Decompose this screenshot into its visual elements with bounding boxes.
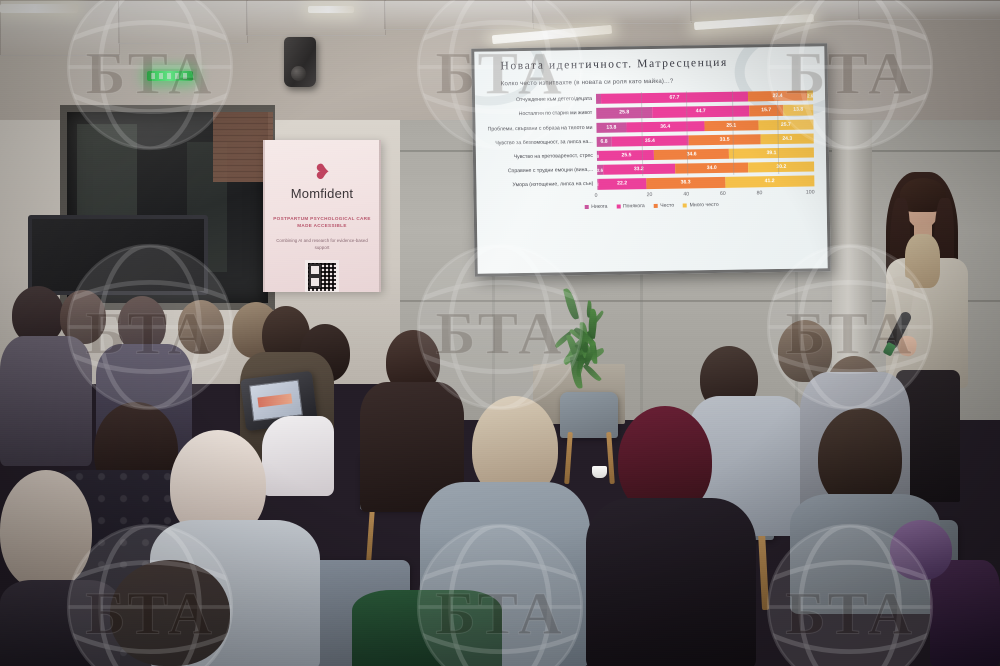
legend-label: Често xyxy=(660,202,674,208)
chart-segment: 36.3 xyxy=(646,177,725,188)
audience-body xyxy=(352,590,502,666)
legend-swatch-icon xyxy=(616,204,620,208)
chart-row-bar: 6.835.433.524.3 xyxy=(597,133,814,147)
chair-leg xyxy=(758,530,769,610)
legend-label: Понякога xyxy=(623,203,645,209)
coffee-cup xyxy=(592,466,607,478)
chart-legend-item: Понякога xyxy=(616,203,644,209)
audience-body xyxy=(0,580,120,666)
chart-segment: 33.2 xyxy=(603,164,675,175)
chart-row-label: Проблеми, свързани с образа на тялото ми xyxy=(487,125,596,133)
audience-body xyxy=(0,336,92,466)
presentation-screen: Новата идентичност. Матресценция Колко ч… xyxy=(471,43,831,277)
legend-swatch-icon xyxy=(654,204,658,208)
audience-body xyxy=(930,560,1000,666)
chart-segment: 41.2 xyxy=(725,176,815,188)
audience-head xyxy=(110,560,230,666)
chart-segment: 67.7 xyxy=(601,92,748,104)
audience-head xyxy=(818,408,902,508)
chart-row-label: Чувство за безпомощност, за липса на... xyxy=(488,139,597,147)
legend-label: Много често xyxy=(690,202,719,208)
momfident-banner: ❥ Momfident POSTPARTUM PSYCHOLOGICAL CAR… xyxy=(263,140,381,292)
audience-head xyxy=(178,300,224,354)
legend-swatch-icon xyxy=(683,203,687,207)
chart-row-bar: 67.727.42.6 xyxy=(596,91,813,105)
wall-monitor xyxy=(28,215,208,295)
slide: Новата идентичност. Матресценция Колко ч… xyxy=(474,46,827,273)
chart-segment: 30.2 xyxy=(748,162,814,173)
chart-row-bar: 25.844.715.713.8 xyxy=(596,105,813,119)
momfident-tagline: POSTPARTUM PSYCHOLOGICAL CARE MADE ACCES… xyxy=(265,215,379,229)
chart-row-bar: 925.534.639.1 xyxy=(597,147,814,161)
chart-x-tick: 40 xyxy=(668,191,705,198)
chart-row-bar: 2.633.234.030.2 xyxy=(597,162,814,176)
chart-segment: 36.4 xyxy=(626,121,704,132)
camera-screen xyxy=(249,379,303,421)
chair-leg xyxy=(366,504,375,566)
chart-row-label: Отчуждение към детето/децата xyxy=(487,96,596,104)
chart-segment: 35.4 xyxy=(611,135,688,146)
legend-swatch-icon xyxy=(585,205,589,209)
chart-segment: 13.8 xyxy=(783,105,813,116)
chart-segment: 44.7 xyxy=(652,106,749,118)
chart-legend-item: Много често xyxy=(683,202,719,209)
chair-leg xyxy=(564,432,573,484)
stacked-bar-chart: Отчуждение към детето/децата67.727.42.6Н… xyxy=(487,89,815,226)
chart-segment: 6.8 xyxy=(597,136,612,146)
chart-x-tick: 80 xyxy=(741,190,778,197)
chart-segment: 33.5 xyxy=(688,134,761,145)
chart-x-tick: 20 xyxy=(631,191,668,198)
plant xyxy=(540,300,624,372)
chart-x-tick: 0 xyxy=(595,192,632,199)
chart-row-bar: 322.236.341.2 xyxy=(597,176,814,190)
momfident-brand-name: Momfident xyxy=(265,186,379,201)
chart-segment: 13.8 xyxy=(596,122,626,133)
chart-row-label: Справяне с трудни емоции (вина,... xyxy=(488,167,597,175)
momfident-subtext: Combining AI and research for evidence-b… xyxy=(265,237,379,251)
presenter-arm xyxy=(878,274,916,357)
chart-segment: 34.6 xyxy=(654,149,729,160)
legend-label: Никога xyxy=(591,203,607,209)
chart-legend-item: Често xyxy=(654,202,674,208)
chart-legend: НикогаПонякогаЧестоМного често xyxy=(489,200,815,211)
chart-segment: 39.1 xyxy=(729,147,814,159)
chart-row-label: Носталгия по стария ми живот xyxy=(487,110,596,118)
chart-segment: 34.0 xyxy=(675,163,749,174)
ceiling-speaker-icon xyxy=(284,37,316,87)
chart-rows: Отчуждение към детето/децата67.727.42.6Н… xyxy=(487,89,814,192)
chart-segment: 25.7 xyxy=(758,119,813,130)
chart-row-bar: 13.836.425.125.7 xyxy=(596,119,813,133)
chart-segment: 2.6 xyxy=(807,91,813,101)
chart-segment: 25.8 xyxy=(596,107,652,118)
chart-legend-item: Никога xyxy=(585,203,608,209)
chart-segment: 24.3 xyxy=(761,133,814,144)
chart-row-label: Чувство на претовареност, стрес xyxy=(488,153,597,161)
chart-x-tick: 100 xyxy=(778,189,815,196)
exit-sign-light xyxy=(147,71,193,81)
chart-x-tick: 60 xyxy=(705,190,742,197)
chair-leg xyxy=(606,432,615,484)
chart-segment: 22.2 xyxy=(598,178,646,189)
audience-shoe xyxy=(890,520,952,580)
chart-segment: 25.5 xyxy=(599,150,654,161)
audience-head-blonde xyxy=(0,470,92,590)
chart-row-label: Умора (изтощение, липса на сън) xyxy=(488,181,597,189)
photograph: ❥ Momfident POSTPARTUM PSYCHOLOGICAL CAR… xyxy=(0,0,1000,666)
momfident-logo-icon: ❥ xyxy=(265,162,379,183)
audience-arm xyxy=(262,416,334,496)
qr-code-icon xyxy=(305,260,339,292)
audience-body xyxy=(586,498,756,666)
